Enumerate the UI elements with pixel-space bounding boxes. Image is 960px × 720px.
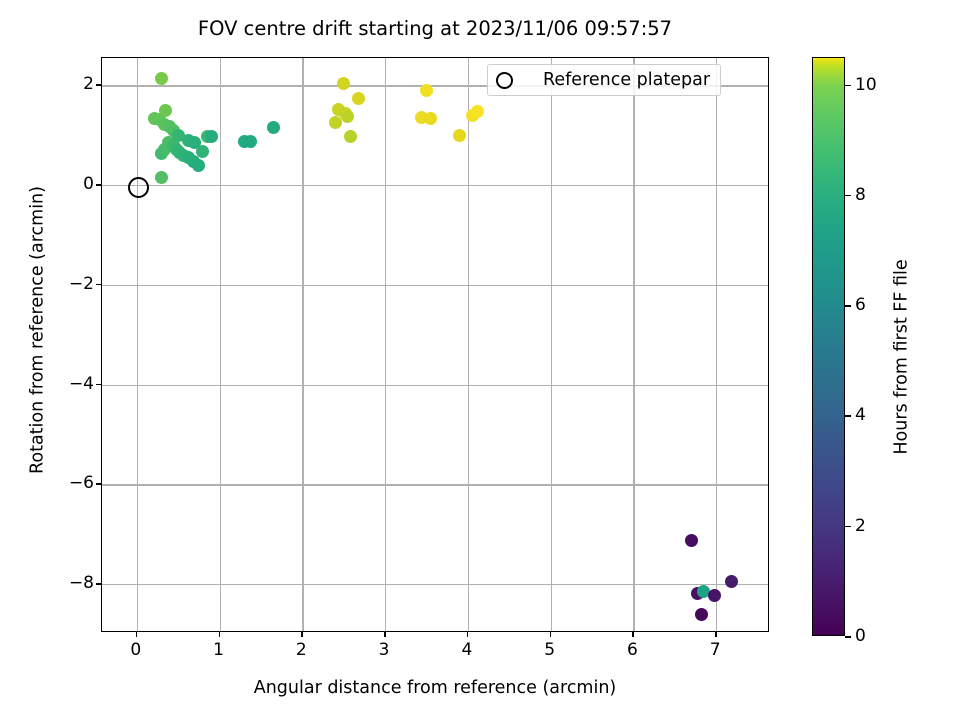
scatter-points-layer	[102, 58, 768, 631]
chart-title: FOV centre drift starting at 2023/11/06 …	[101, 17, 769, 40]
plot-area	[101, 57, 769, 632]
y-axis-tick	[96, 483, 101, 485]
y-axis-tick	[96, 284, 101, 286]
x-axis-tick-label: 2	[296, 640, 307, 660]
colorbar-tick-label: 4	[855, 405, 866, 425]
scatter-point	[244, 135, 257, 148]
legend[interactable]: Reference platepar	[487, 64, 721, 96]
scatter-point	[205, 130, 218, 143]
y-axis-tick	[96, 384, 101, 386]
scatter-point	[155, 171, 168, 184]
x-axis-tick	[467, 632, 469, 637]
y-axis-tick-label: 2	[83, 74, 94, 94]
x-axis-tick	[715, 632, 717, 637]
colorbar-tick	[845, 195, 851, 197]
scatter-point	[708, 589, 721, 602]
y-axis-tick-label: 0	[83, 174, 94, 194]
y-axis-tick-label: −4	[69, 374, 94, 394]
x-axis-label: Angular distance from reference (arcmin)	[101, 678, 769, 698]
scatter-point	[155, 72, 168, 85]
scatter-point	[267, 121, 280, 134]
colorbar-tick	[845, 305, 851, 307]
x-axis-tick-label: 5	[544, 640, 555, 660]
colorbar-tick	[845, 85, 851, 87]
scatter-point	[341, 110, 354, 123]
scatter-point	[725, 575, 738, 588]
x-axis-tick	[136, 632, 138, 637]
scatter-point	[420, 84, 433, 97]
y-axis-tick	[96, 583, 101, 585]
scatter-point	[424, 112, 437, 125]
scatter-point	[695, 608, 708, 621]
scatter-point	[352, 92, 365, 105]
x-axis-tick-label: 4	[461, 640, 472, 660]
scatter-point	[344, 130, 357, 143]
colorbar-tick-label: 8	[855, 185, 866, 205]
colorbar-tick-label: 10	[855, 75, 877, 95]
scatter-point	[337, 77, 350, 90]
scatter-point	[188, 136, 201, 149]
y-axis-tick-label: −8	[69, 573, 94, 593]
scatter-point	[192, 159, 205, 172]
colorbar-tick	[845, 636, 851, 638]
y-axis-tick-label: −6	[69, 473, 94, 493]
figure-canvas: FOV centre drift starting at 2023/11/06 …	[0, 0, 960, 720]
x-axis-tick-label: 6	[627, 640, 638, 660]
colorbar-tick-label: 6	[855, 295, 866, 315]
legend-label: Reference platepar	[543, 70, 710, 90]
colorbar	[812, 57, 845, 636]
colorbar-tick	[845, 415, 851, 417]
x-axis-tick	[632, 632, 634, 637]
x-axis-tick	[384, 632, 386, 637]
scatter-point	[471, 105, 484, 118]
x-axis-tick-label: 1	[213, 640, 224, 660]
x-axis-tick-label: 3	[379, 640, 390, 660]
x-axis-tick	[219, 632, 221, 637]
reference-platepar-point	[128, 177, 149, 198]
x-axis-tick	[301, 632, 303, 637]
x-axis-tick-label: 0	[130, 640, 141, 660]
y-axis-tick	[96, 84, 101, 86]
colorbar-tick-label: 2	[855, 516, 866, 536]
y-axis-label: Rotation from reference (arcmin)	[28, 43, 48, 618]
scatter-point	[453, 129, 466, 142]
scatter-point	[685, 534, 698, 547]
y-axis-tick	[96, 184, 101, 186]
reference-platepar-marker-icon	[496, 72, 513, 89]
x-axis-tick-label: 7	[710, 640, 721, 660]
y-axis-tick-label: −2	[69, 274, 94, 294]
scatter-point	[329, 116, 342, 129]
scatter-point	[159, 104, 172, 117]
x-axis-tick	[550, 632, 552, 637]
colorbar-tick-label: 0	[855, 626, 866, 646]
colorbar-tick	[845, 526, 851, 528]
colorbar-label: Hours from first FF file	[892, 68, 912, 647]
